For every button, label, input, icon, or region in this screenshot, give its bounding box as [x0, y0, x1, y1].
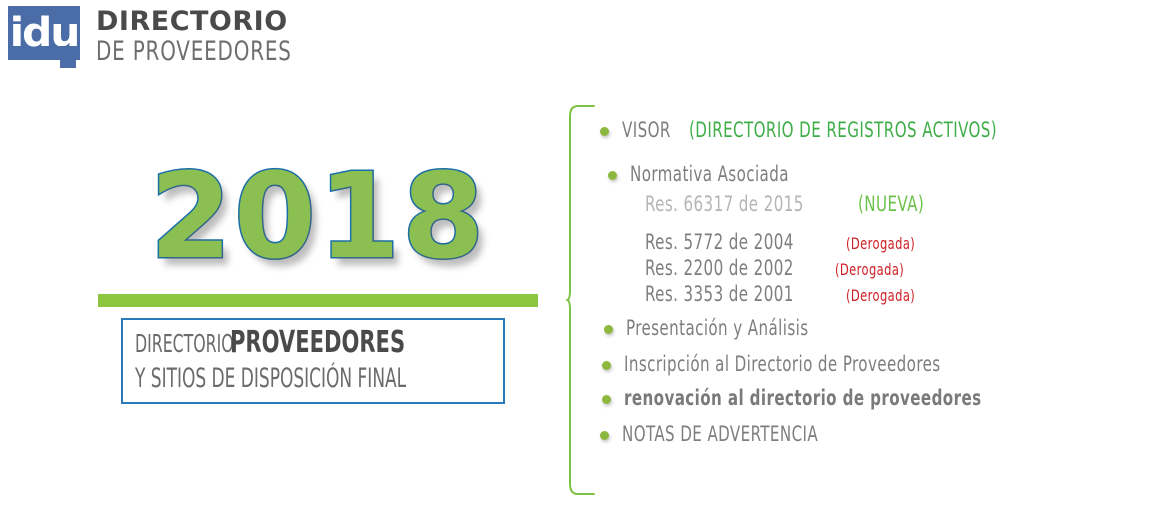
normativa-state-tag: (Derogada) — [835, 260, 904, 279]
idu-logo-descender — [60, 46, 76, 68]
normativa-row-nueva[interactable]: Res. 66317 de 2015 (NUEVA) — [600, 192, 1120, 216]
normativa-state-tag: (Derogada) — [846, 286, 915, 305]
green-divider-bar — [98, 294, 538, 307]
title-box-directorio: DIRECTORIO — [135, 326, 234, 362]
agenda-item-inscripcion[interactable]: Inscripción al Directorio de Proveedores — [600, 352, 1120, 376]
brand-title-block: DIRECTORIO DE PROVEEDORES — [96, 6, 335, 67]
normativa-row-3353[interactable]: Res. 3353 de 2001 (Derogada) — [600, 282, 1120, 306]
title-box: DIRECTORIOPROVEEDORES Y SITIOS DE DISPOS… — [121, 318, 505, 404]
title-box-proveedores: PROVEEDORES — [230, 325, 405, 361]
bullet-icon — [604, 325, 613, 334]
normativa-row-2200[interactable]: Res. 2200 de 2002 (Derogada) — [600, 256, 1120, 280]
bullet-icon — [602, 361, 611, 370]
agenda-item-label: Presentación y Análisis — [626, 316, 809, 340]
bullet-icon — [602, 395, 611, 404]
bullet-icon — [600, 431, 609, 440]
agenda-item-label: VISOR — [622, 118, 671, 142]
agenda-item-normativa[interactable]: Normativa Asociada — [600, 162, 1120, 186]
brand-title-primary: DIRECTORIO — [96, 7, 335, 37]
agenda-item-label: Inscripción al Directorio de Proveedores — [624, 352, 941, 376]
bullet-icon — [608, 171, 617, 180]
year-heading: 2018 — [98, 152, 538, 280]
idu-logo-icon: idu — [8, 6, 80, 60]
title-box-line-1: DIRECTORIOPROVEEDORES — [135, 325, 491, 361]
title-box-line-2: Y SITIOS DE DISPOSICIÓN FINAL — [135, 361, 491, 397]
bullet-icon — [600, 127, 609, 136]
brand-header: idu DIRECTORIO DE PROVEEDORES — [8, 6, 335, 67]
normativa-res-label: Res. 5772 de 2004 — [645, 230, 794, 254]
green-curly-brace — [566, 104, 596, 496]
agenda-list: VISOR (DIRECTORIO DE REGISTROS ACTIVOS) … — [600, 118, 1120, 446]
brand-title-secondary: DE PROVEEDORES — [96, 37, 292, 67]
agenda-item-visor[interactable]: VISOR (DIRECTORIO DE REGISTROS ACTIVOS) — [600, 118, 1120, 142]
normativa-row-5772[interactable]: Res. 5772 de 2004 (Derogada) — [600, 230, 1120, 254]
normativa-state-tag: (Derogada) — [846, 234, 915, 253]
agenda-item-presentacion[interactable]: Presentación y Análisis — [600, 316, 1120, 340]
normativa-res-label: Res. 2200 de 2002 — [645, 256, 794, 280]
normativa-res-label: Res. 3353 de 2001 — [645, 282, 794, 306]
agenda-item-notas[interactable]: NOTAS DE ADVERTENCIA — [600, 422, 1120, 446]
agenda-item-label: Normativa Asociada — [630, 162, 789, 186]
agenda-item-label: NOTAS DE ADVERTENCIA — [622, 422, 818, 446]
agenda-item-renovacion[interactable]: renovación al directorio de proveedores — [600, 386, 1120, 410]
agenda-item-label: renovación al directorio de proveedores — [624, 386, 982, 410]
agenda-item-suffix: (DIRECTORIO DE REGISTROS ACTIVOS) — [689, 118, 997, 142]
title-box-subtitle: Y SITIOS DE DISPOSICIÓN FINAL — [135, 361, 406, 397]
normativa-res-label: Res. 66317 de 2015 — [645, 192, 804, 216]
normativa-state-tag: (NUEVA) — [858, 192, 924, 216]
